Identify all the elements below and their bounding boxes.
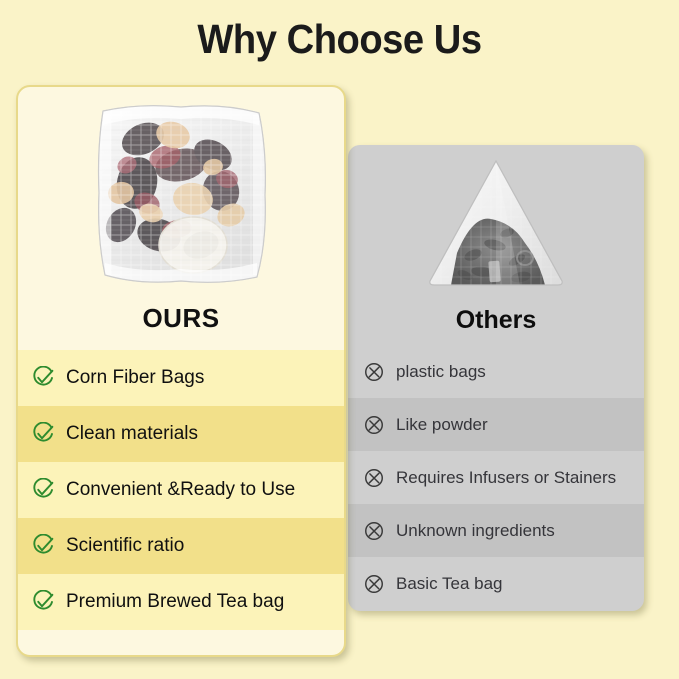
check-circle-icon (31, 478, 55, 502)
list-item: Scientific ratio (18, 518, 344, 574)
ours-comparison-card: OURS Corn Fiber Bags Clean materials (16, 85, 346, 657)
list-item: Convenient &Ready to Use (18, 462, 344, 518)
others-feature-list: plastic bags Like powder Requires Infuse… (348, 345, 644, 610)
list-item: Corn Fiber Bags (18, 350, 344, 406)
list-item-label: Clean materials (66, 423, 198, 445)
check-circle-icon (31, 534, 55, 558)
check-circle-icon (31, 422, 55, 446)
list-item-label: Premium Brewed Tea bag (66, 591, 284, 613)
list-item-label: Corn Fiber Bags (66, 367, 204, 389)
others-product-image (348, 145, 644, 300)
list-item: Unknown ingredients (348, 504, 644, 557)
list-item: Basic Tea bag (348, 557, 644, 610)
list-item: Like powder (348, 398, 644, 451)
list-item-label: Convenient &Ready to Use (66, 479, 295, 501)
list-item-label: Like powder (396, 415, 488, 435)
x-circle-icon (363, 520, 385, 542)
list-item-label: Unknown ingredients (396, 521, 555, 541)
x-circle-icon (363, 573, 385, 595)
ours-product-image (18, 87, 344, 294)
list-item-label: plastic bags (396, 362, 486, 382)
list-item: Clean materials (18, 406, 344, 462)
ours-feature-list: Corn Fiber Bags Clean materials Convenie… (18, 350, 344, 630)
ours-heading: OURS (18, 302, 344, 334)
list-item: Premium Brewed Tea bag (18, 574, 344, 630)
list-item-label: Basic Tea bag (396, 574, 502, 594)
check-circle-icon (31, 590, 55, 614)
x-circle-icon (363, 414, 385, 436)
pyramid-tea-bag-icon (421, 157, 571, 289)
x-circle-icon (363, 361, 385, 383)
others-heading: Others (348, 305, 644, 335)
square-pillow-tea-bag-icon (81, 95, 281, 293)
check-circle-icon (31, 366, 55, 390)
page-title: Why Choose Us (24, 14, 655, 64)
list-item-label: Scientific ratio (66, 535, 184, 557)
list-item-label: Requires Infusers or Stainers (396, 468, 616, 488)
x-circle-icon (363, 467, 385, 489)
others-comparison-card: Others plastic bags Like powder (348, 145, 644, 611)
list-item: plastic bags (348, 345, 644, 398)
list-item: Requires Infusers or Stainers (348, 451, 644, 504)
